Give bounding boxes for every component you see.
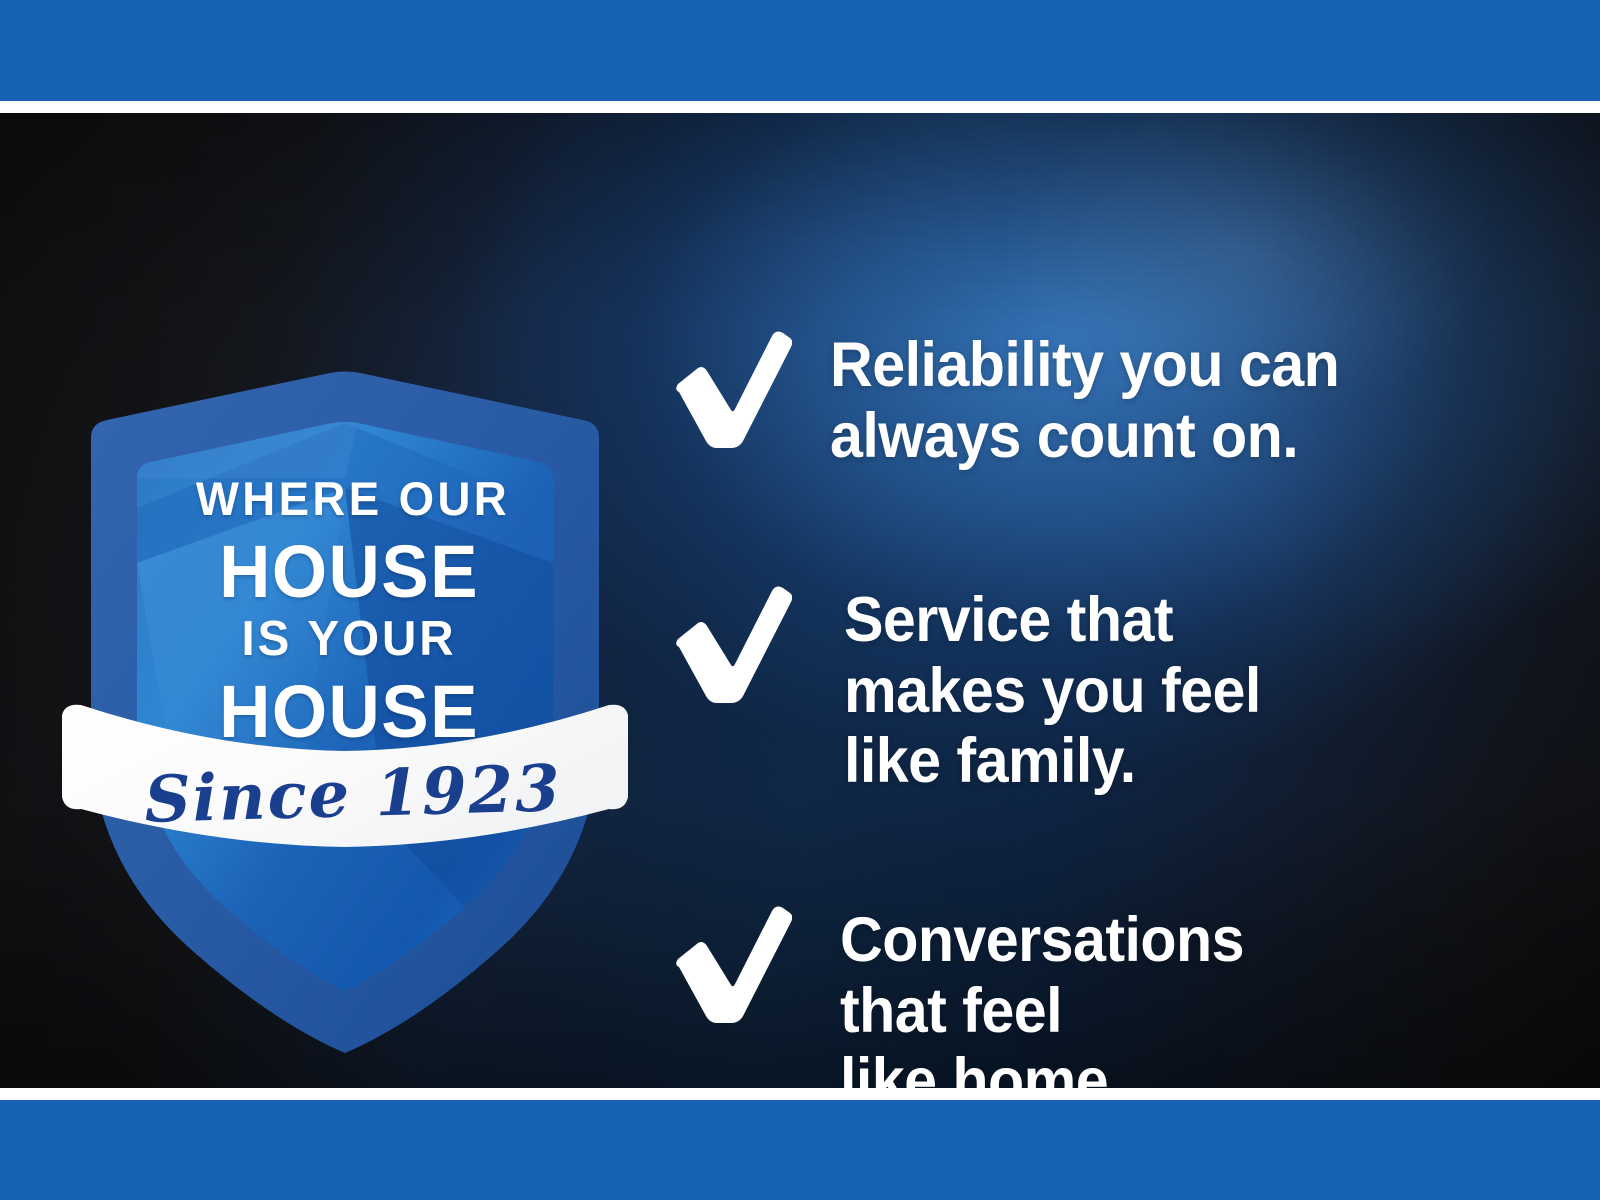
logo-line-house-2: HOUSE [71,675,628,749]
logo-line-where-our: WHERE OUR [72,475,635,522]
logo-line-is-your: IS YOUR [68,615,631,664]
benefit-item-service: Service that makes you feel like family. [660,581,1560,797]
promo-graphic: WHERE OUR HOUSE IS YOUR HOUSE Since 1923… [0,0,1600,1200]
brand-bar-bottom [0,1100,1600,1200]
benefit-text: Service that makes you feel like family. [844,581,1517,797]
benefit-text: Reliability you can always count on. [830,326,1516,471]
check-icon [660,583,792,703]
brand-divider-top [0,101,1600,113]
check-icon [660,903,792,1023]
company-shield-logo: WHERE OUR HOUSE IS YOUR HOUSE Since 1923 [55,263,635,1083]
benefit-item-reliability: Reliability you can always count on. [660,326,1560,471]
benefits-list: Reliability you can always count on. Ser… [660,226,1560,1088]
brand-divider-bottom [0,1088,1600,1100]
logo-line-house-1: HOUSE [71,535,628,609]
since-year-script: Since 1923 [62,755,644,835]
check-icon [660,328,792,448]
benefit-item-conversations: Conversations that feel like home. [660,901,1560,1088]
benefit-text: Conversations that feel like home. [840,901,1517,1088]
brand-bar-top [0,0,1600,101]
main-stage: WHERE OUR HOUSE IS YOUR HOUSE Since 1923… [0,113,1600,1088]
